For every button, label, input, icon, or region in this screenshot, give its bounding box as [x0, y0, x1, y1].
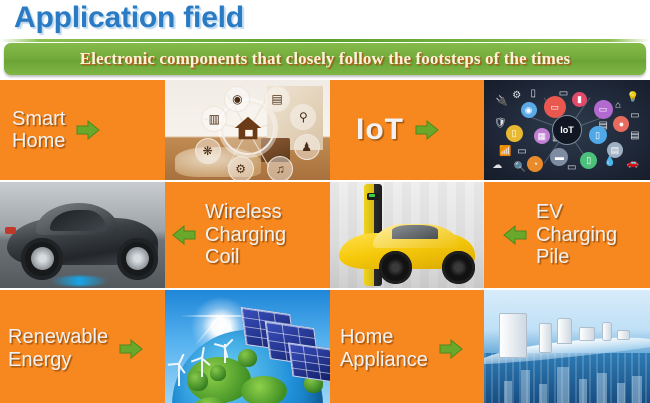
- tree: [210, 365, 227, 381]
- node-fan-icon: ❋: [195, 138, 221, 164]
- iot-node-laptop: ▭: [594, 100, 613, 119]
- label-renewable-energy: Renewable Energy: [8, 326, 108, 371]
- appliance-washer: [539, 323, 552, 353]
- banner-text: Electronic components that closely follo…: [80, 49, 570, 69]
- cell-home-appliance-label[interactable]: Home Appliance: [330, 290, 484, 403]
- iot-glyph-clipboard-icon: ▤: [630, 130, 639, 141]
- tree: [238, 349, 258, 368]
- application-grid: Smart Home: [0, 80, 650, 403]
- arrow-right-icon: [118, 337, 144, 361]
- cell-renewable-energy-label[interactable]: Renewable Energy: [0, 290, 165, 403]
- iot-glyph-gears-icon: ⚙: [512, 90, 521, 101]
- cell-gray-car-image[interactable]: [0, 182, 165, 288]
- car-rim: [126, 247, 149, 270]
- building: [579, 379, 587, 403]
- node-kitchen-icon: ▤: [264, 86, 290, 112]
- tree: [188, 371, 208, 391]
- iot-node-mobile: ▯: [580, 152, 597, 169]
- building: [597, 373, 607, 403]
- gray-sports-car-photo: [0, 182, 165, 288]
- label-smart-home: Smart Home: [12, 108, 65, 153]
- label-iot: IoT: [356, 113, 404, 147]
- building: [632, 376, 642, 403]
- car-cockpit: [392, 225, 438, 239]
- iot-node-printer: ▬: [550, 148, 568, 166]
- car-wheel: [379, 251, 411, 283]
- car-rim: [387, 259, 404, 276]
- iot-glyph-car-icon: 🚗: [627, 158, 639, 169]
- iot-node-clock: ◔: [527, 156, 543, 172]
- label-wireless-charging-coil: Wireless Charging Coil: [205, 201, 286, 268]
- iot-network-photo: IoT ▭ ▮ ▭ ◉ ▯ ▦ ▯ ● ▬ ◔ ▯ ▤ 🔌 ⚙ ▯ ▭ 💡 ⌂ …: [484, 80, 650, 180]
- landmass: [241, 376, 287, 403]
- appliance-refrigerator: [499, 313, 527, 357]
- cell-ev-charging-label[interactable]: EV Charging Pile: [484, 182, 650, 288]
- node-settings-icon: ⚙: [228, 156, 254, 180]
- arrow-right-icon: [75, 118, 101, 142]
- home-appliance-photo: [484, 290, 650, 403]
- label-home-appliance: Home Appliance: [340, 326, 428, 371]
- wind-turbine: [224, 344, 226, 363]
- house-icon: [233, 113, 263, 143]
- node-family-icon: ♟: [294, 134, 320, 160]
- charging-pile-led: [369, 194, 375, 197]
- solar-earth-photo: [165, 290, 330, 403]
- iot-glyph-wifi-icon: 📶: [499, 146, 511, 157]
- iot-glyph-shield-icon: 🛡: [494, 118, 507, 129]
- iot-node-plug: ▮: [572, 92, 587, 107]
- iot-glyph-window-icon: ▭: [517, 146, 526, 157]
- cell-ev-car-image[interactable]: [330, 182, 484, 288]
- iot-center-node: IoT: [552, 115, 582, 145]
- car-wheel: [117, 238, 158, 279]
- cell-smart-home-label[interactable]: Smart Home: [0, 80, 165, 180]
- cell-home-appliance-image[interactable]: [484, 290, 650, 403]
- page-title: Application field: [14, 1, 244, 35]
- node-music-icon: ♫: [267, 156, 293, 180]
- building: [617, 383, 625, 403]
- iot-glyph-cloud-icon: ☁: [492, 160, 502, 171]
- wind-turbine: [201, 356, 203, 377]
- building: [521, 370, 531, 403]
- solar-panel: [288, 343, 330, 383]
- cell-iot-label[interactable]: IoT: [330, 80, 484, 180]
- iot-glyph-plug-icon: 🔌: [496, 96, 508, 107]
- label-ev-charging-pile: EV Charging Pile: [536, 201, 617, 268]
- cell-wireless-charging-label[interactable]: Wireless Charging Coil: [165, 182, 330, 288]
- arrow-right-icon: [438, 337, 464, 361]
- iot-node-camera: ◉: [521, 102, 537, 118]
- iot-glyph-search-icon: 🔍: [514, 162, 526, 173]
- cell-smart-home-image[interactable]: ◉ ▤ ▥ ⚲ ❋ ♟ ⚙ ♫: [165, 80, 330, 180]
- arrow-right-icon: [414, 118, 440, 142]
- turbine-blade: [168, 363, 179, 365]
- iot-glyph-home-icon: ⌂: [615, 100, 621, 111]
- car-wheel: [21, 238, 62, 279]
- building: [539, 384, 547, 403]
- car-taillight: [5, 227, 17, 234]
- appliance-range-hood: [557, 318, 572, 344]
- appliance-microwave: [579, 327, 596, 341]
- wireless-charging-glow: [50, 276, 109, 286]
- iot-node-speaker: ▤: [607, 142, 623, 158]
- slide-root: Application field Electronic components …: [0, 0, 650, 403]
- ev-charging-car-photo: [330, 182, 484, 288]
- iot-glyph-phone-icon: ▯: [530, 88, 536, 99]
- car-rim: [450, 259, 467, 276]
- title-divider: [0, 39, 650, 42]
- sun-ray: [181, 315, 221, 317]
- iot-glyph-money-icon: ▭: [567, 162, 576, 173]
- iot-node-tablet: ▯: [589, 126, 607, 144]
- building: [557, 367, 569, 403]
- wind-turbine: [178, 363, 180, 386]
- arrow-left-icon: [502, 223, 528, 247]
- iot-node-lock: ▦: [534, 128, 550, 144]
- iot-glyph-bulb-icon: 💡: [627, 92, 639, 103]
- appliance-audio: [617, 330, 630, 341]
- iot-glyph-card-icon: ▭: [630, 110, 639, 121]
- cell-iot-image[interactable]: IoT ▭ ▮ ▭ ◉ ▯ ▦ ▯ ● ▬ ◔ ▯ ▤ 🔌 ⚙ ▯ ▭ 💡 ⌂ …: [484, 80, 650, 180]
- iot-node-user: ●: [613, 116, 629, 132]
- banner: Electronic components that closely follo…: [4, 43, 646, 75]
- arrow-left-icon: [171, 223, 197, 247]
- iot-node-phone: ▯: [506, 125, 523, 142]
- cell-solar-image[interactable]: [165, 290, 330, 403]
- smart-home-photo: ◉ ▤ ▥ ⚲ ❋ ♟ ⚙ ♫: [165, 80, 330, 180]
- appliance-water-heater: [602, 322, 612, 342]
- car-rim: [31, 247, 54, 270]
- car-wheel: [442, 251, 474, 283]
- building: [504, 381, 512, 403]
